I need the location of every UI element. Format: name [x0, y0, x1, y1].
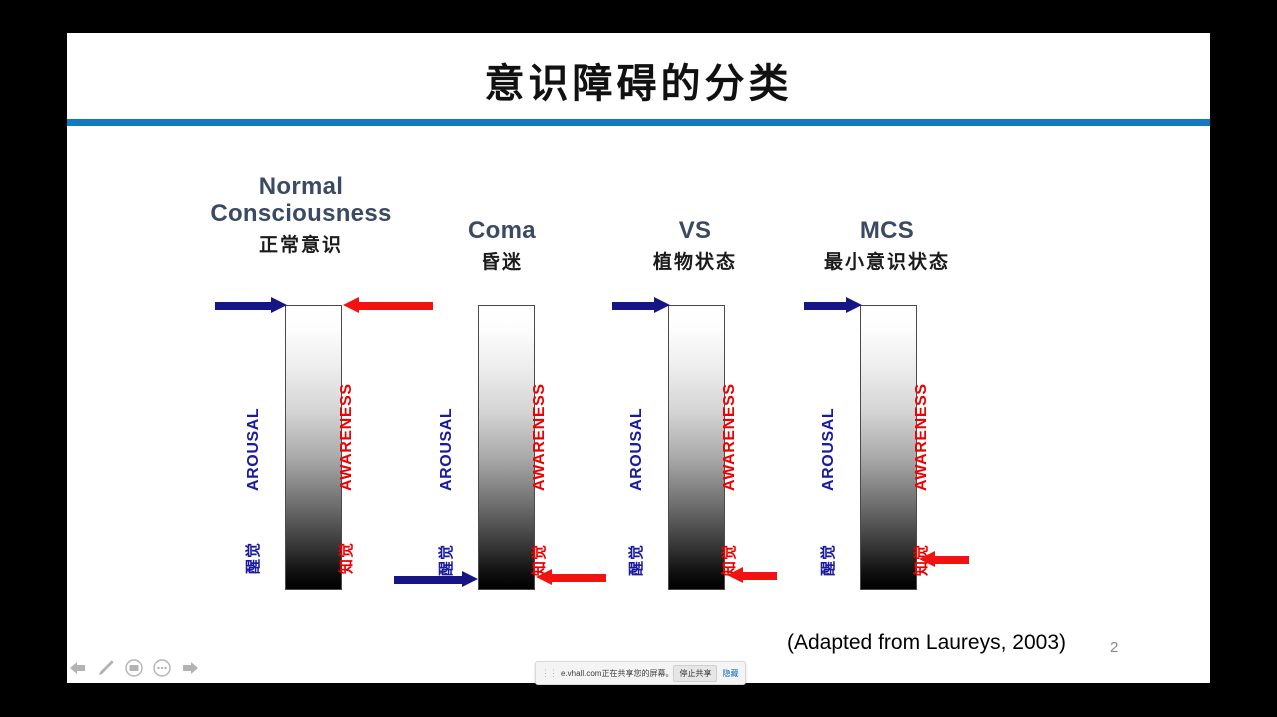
arousal-label-zh: 醒觉 [625, 544, 646, 576]
arousal-label-zh: 醒觉 [817, 544, 838, 576]
awareness-label-zh: 知觉 [335, 542, 356, 574]
consciousness-gradient-bar [285, 305, 342, 590]
stop-sharing-button[interactable]: 停止共享 [673, 665, 717, 682]
presentation-screen-icon[interactable] [124, 658, 144, 678]
consciousness-gradient-bar [668, 305, 725, 590]
arousal-label-zh: 醒觉 [242, 542, 263, 574]
awareness-label-en: AWARENESS [913, 383, 931, 491]
arousal-label-en: AROUSAL [245, 408, 263, 491]
slide-page-number: 2 [1110, 639, 1118, 656]
source-credit: (Adapted from Laureys, 2003) [787, 631, 1066, 655]
arousal-label-en: AROUSAL [628, 408, 646, 491]
screen-share-notification[interactable]: ⋮⋮ e.vhall.com正在共享您的屏幕。 停止共享 隐藏 [535, 661, 746, 685]
awareness-arrow-low-mid [919, 551, 969, 568]
share-status-text: e.vhall.com正在共享您的屏幕。 [561, 668, 673, 679]
consciousness-gradient-bar [860, 305, 917, 590]
drag-handle-icon[interactable]: ⋮⋮ [541, 668, 557, 679]
hide-notification-link[interactable]: 隐藏 [722, 668, 738, 679]
screen-share-viewport: 意识障碍的分类 Normal Consciousness 正常意识 AROUSA… [0, 0, 1277, 717]
pencil-icon[interactable] [96, 658, 116, 678]
previous-slide-icon[interactable] [68, 658, 88, 678]
slide-toolbar [68, 658, 200, 678]
awareness-label-en: AWARENESS [531, 383, 549, 491]
next-slide-icon[interactable] [180, 658, 200, 678]
awareness-label-en: AWARENESS [338, 383, 356, 491]
awareness-label-en: AWARENESS [721, 383, 739, 491]
arousal-arrow-low [394, 571, 478, 588]
arousal-label-en: AROUSAL [820, 408, 838, 491]
arousal-arrow-high [612, 297, 670, 314]
column-heading-minimally-conscious-state: MCS 最小意识状态 [757, 218, 1017, 274]
arousal-label-en: AROUSAL [438, 408, 456, 491]
column-title-zh: 最小意识状态 [757, 247, 1017, 274]
arousal-arrow-high [215, 297, 287, 314]
arousal-arrow-high [804, 297, 862, 314]
consciousness-gradient-bar [478, 305, 535, 590]
diagram-column-minimally-conscious-state: MCS 最小意识状态 AROUSAL 醒觉 AWARENESS 知觉 [757, 33, 1017, 683]
column-title-en-line1: MCS [757, 218, 1017, 245]
presentation-slide: 意识障碍的分类 Normal Consciousness 正常意识 AROUSA… [67, 33, 1210, 683]
more-options-icon[interactable] [152, 658, 172, 678]
